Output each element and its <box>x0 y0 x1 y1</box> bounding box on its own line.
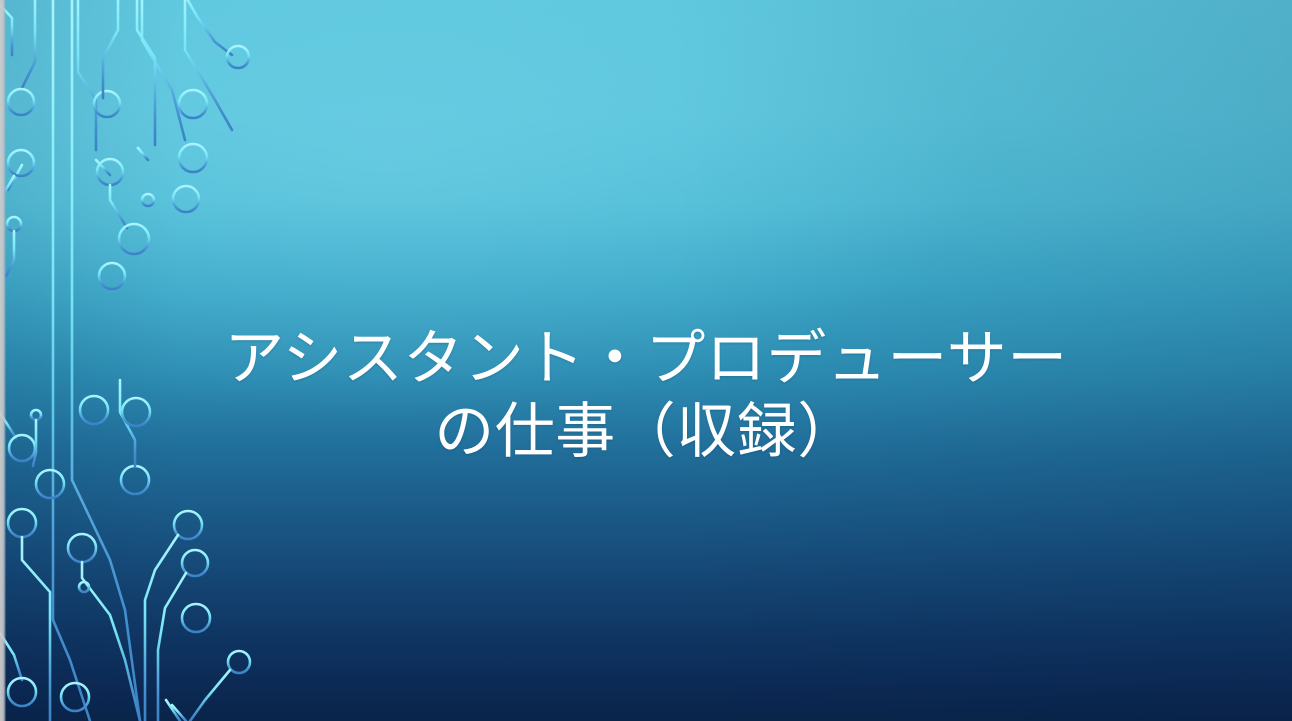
slide-canvas: アシスタント・プロデューサー の仕事（収録） <box>0 0 1292 721</box>
slide-title: アシスタント・プロデューサー の仕事（収録） <box>0 322 1292 468</box>
slide-title-line-1: アシスタント・プロデューサー <box>40 322 1252 395</box>
slide-title-line-2: の仕事（収録） <box>40 395 1252 468</box>
